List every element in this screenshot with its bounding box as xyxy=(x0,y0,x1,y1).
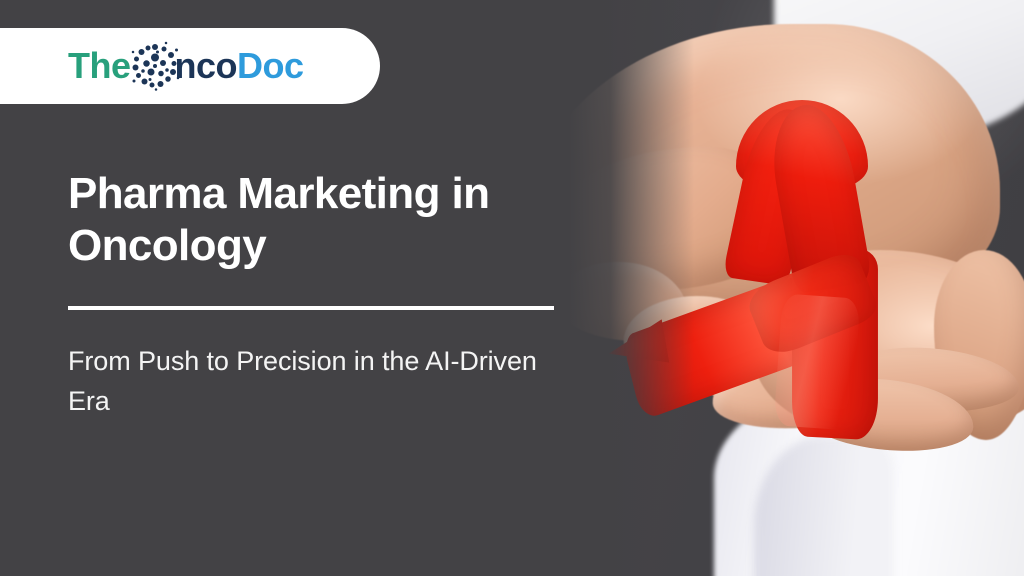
page-title: Pharma Marketing in Oncology xyxy=(68,168,568,272)
logo-pill[interactable]: The xyxy=(0,28,380,104)
promo-banner: The xyxy=(0,0,1024,576)
logo-text-the: The xyxy=(68,48,131,84)
cell-cluster-icon xyxy=(130,41,180,91)
title-divider xyxy=(68,306,554,310)
red-awareness-ribbon xyxy=(564,100,984,480)
logo-text-doc: Doc xyxy=(237,48,304,84)
logo-lockup: The xyxy=(68,41,304,91)
copy-block: Pharma Marketing in Oncology From Push t… xyxy=(68,168,568,422)
page-subtitle: From Push to Precision in the AI-Driven … xyxy=(68,342,568,422)
logo-text-nco: nco xyxy=(175,48,238,84)
hero-photo xyxy=(504,0,1024,576)
